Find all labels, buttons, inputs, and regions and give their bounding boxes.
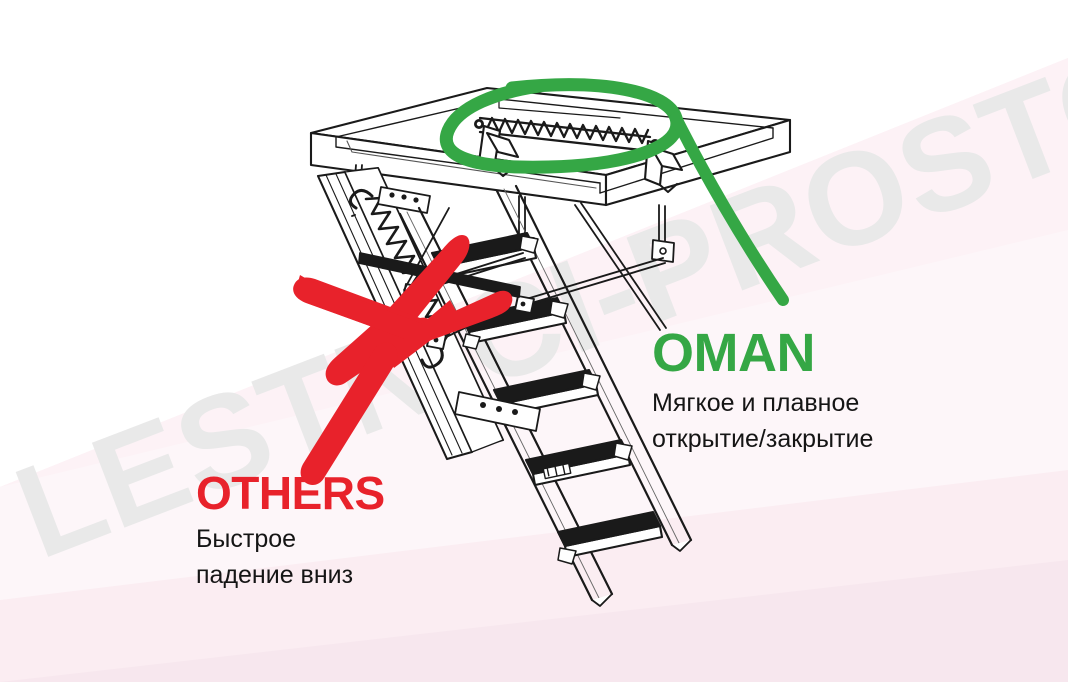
callout-oman: OMAN Мягкое и плавное открытие/закрытие xyxy=(652,326,873,457)
others-subtext-line-2: падение вниз xyxy=(196,558,385,594)
oman-subtext-line-1: Мягкое и плавное xyxy=(652,386,873,422)
illustration-canvas: LESTNICI-PROSTO.RU xyxy=(0,0,1068,682)
red-arrow-annotation xyxy=(0,0,1068,682)
callout-others: OTHERS Быстрое падение вниз xyxy=(196,470,385,593)
oman-headline: OMAN xyxy=(652,326,873,380)
others-headline: OTHERS xyxy=(196,470,385,516)
others-subtext-line-1: Быстрое xyxy=(196,522,385,558)
oman-subtext-line-2: открытие/закрытие xyxy=(652,422,873,458)
